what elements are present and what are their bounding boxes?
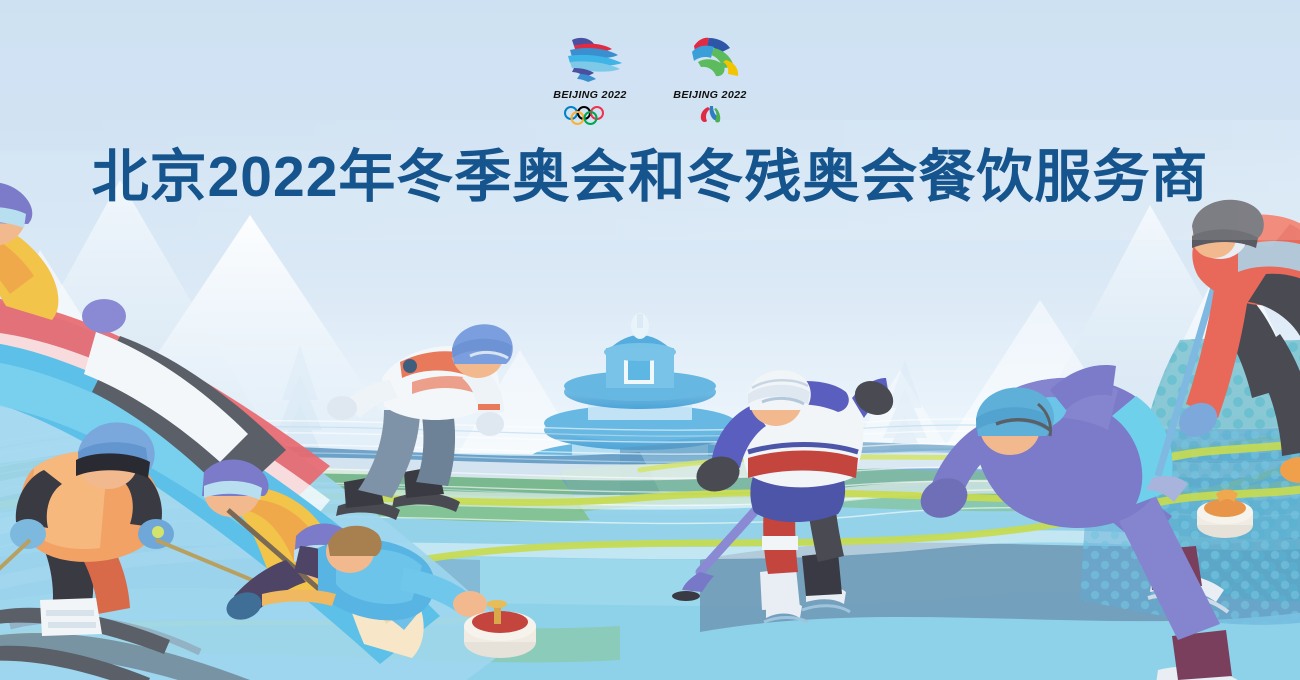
curling-stone: [464, 600, 536, 658]
olympic-emblem-mark: [544, 32, 636, 88]
beijing-2022-olympic-logo: BEIJING 2022: [544, 32, 636, 126]
curling-sheet: [10, 486, 310, 546]
ice-hockey-player: [672, 370, 899, 622]
alpine-skier: [0, 422, 300, 680]
logo-row: BEIJING 2022 BEIJING 2022: [540, 32, 760, 140]
page-title: 北京2022年冬季奥会和冬残奥会餐饮服务商: [0, 148, 1300, 208]
olympic-rings-icon: [561, 104, 619, 126]
paralympic-wordmark: BEIJING 2022: [673, 89, 746, 101]
bobsleigh-athlete-3: [294, 523, 424, 658]
halftone-panel: [1080, 338, 1300, 625]
speed-skater-purple: [915, 365, 1248, 680]
beijing-2022-paralympic-logo: BEIJING 2022: [664, 32, 756, 126]
pine-trees: [274, 345, 1200, 474]
speed-skater-white: [327, 324, 513, 520]
curler-sweeping: [1146, 200, 1300, 538]
paralympic-agitos-icon: [693, 104, 727, 126]
olympic-wordmark: BEIJING 2022: [553, 89, 626, 101]
bobsleigh-team: [0, 182, 520, 680]
bobsleigh-athlete-2: [202, 459, 336, 600]
curling-stone-right: [1197, 490, 1253, 539]
ribbon-waves: [0, 419, 1300, 680]
curler-delivering: [223, 510, 536, 658]
beijing-2022-catering-banner: BEIJING 2022 BEIJING 2022: [0, 0, 1300, 680]
temple-of-heaven: [520, 313, 760, 538]
paralympic-emblem-mark: [664, 32, 756, 88]
mountains: [0, 180, 1300, 500]
